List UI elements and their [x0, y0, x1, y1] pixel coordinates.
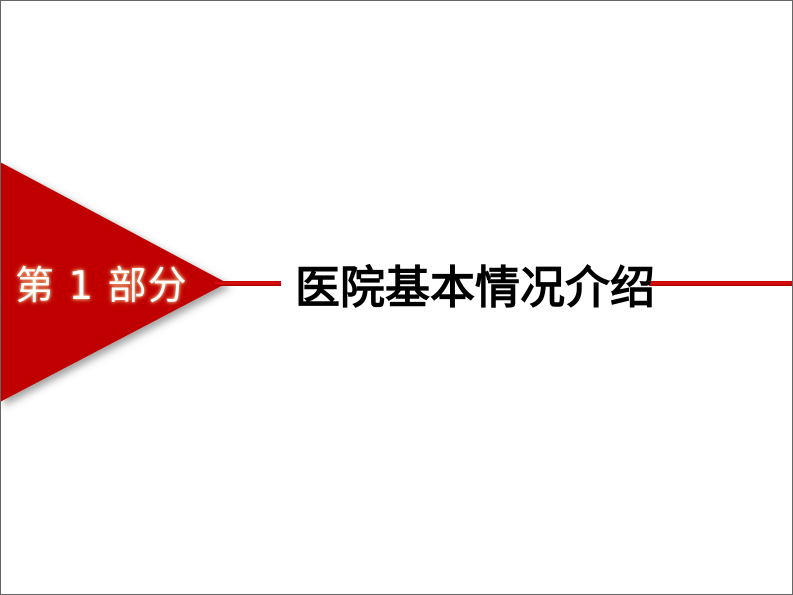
section-number-label: 第 1 部分 [15, 260, 205, 312]
page-title: 医院基本情况介绍 [295, 259, 655, 315]
rule-left [215, 281, 281, 286]
slide-canvas: 第 1 部分 医院基本情况介绍 [0, 0, 793, 595]
rule-right [649, 281, 793, 286]
